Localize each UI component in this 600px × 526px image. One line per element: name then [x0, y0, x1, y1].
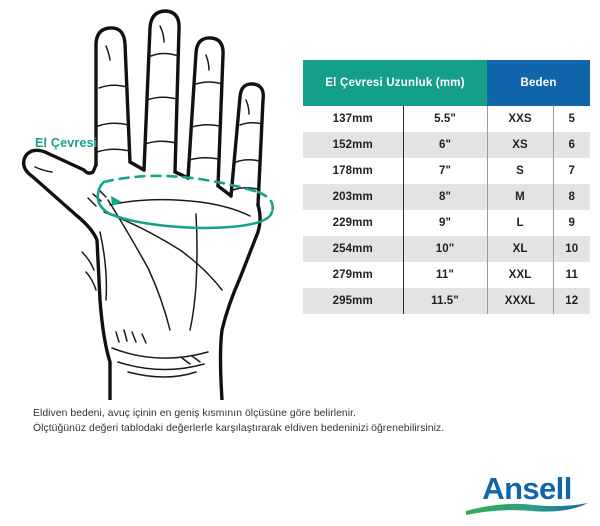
hand-outline-group: [24, 11, 264, 400]
cell-size-letter: XXL: [487, 262, 553, 288]
table-row: 203mm8"M8: [303, 184, 590, 210]
wrist-hair-4: [142, 334, 146, 343]
cell-size-letter: XL: [487, 236, 553, 262]
cell-circumference-mm: 152mm: [303, 132, 403, 158]
finger-web-ring-little: [218, 186, 231, 196]
middle-knuckle-1: [151, 54, 178, 57]
table-row: 137mm5.5"XXS5: [303, 106, 590, 132]
ansell-logo: Ansell: [462, 472, 592, 520]
cell-circumference-inch: 9": [403, 210, 487, 236]
cell-circumference-inch: 10": [403, 236, 487, 262]
cell-size-letter: XXS: [487, 106, 553, 132]
ring-knuckle-1: [196, 82, 222, 84]
ansell-logo-svg: Ansell: [462, 472, 592, 520]
size-table-header-row: El Çevresi Uzunluk (mm) Beden: [303, 60, 590, 106]
cell-size-number: 11: [553, 262, 590, 288]
cell-circumference-inch: 8": [403, 184, 487, 210]
little-nail-crease: [246, 100, 249, 114]
cell-circumference-inch: 6": [403, 132, 487, 158]
cell-size-number: 8: [553, 184, 590, 210]
caption-line-2: Ölçtüğünüz değeri tablodaki değerlerle k…: [33, 421, 573, 436]
cell-circumference-mm: 295mm: [303, 288, 403, 314]
cell-circumference-mm: 279mm: [303, 262, 403, 288]
palm-line-fate: [190, 214, 197, 330]
ansell-wordmark-text: Ansell: [482, 472, 571, 506]
thumb-and-palm-outline: [24, 150, 110, 400]
wrist-hair-2: [124, 330, 127, 341]
table-row: 152mm6"XS6: [303, 132, 590, 158]
cell-size-number: 7: [553, 158, 590, 184]
header-hand-circumference: El Çevresi Uzunluk (mm): [303, 60, 487, 106]
wrist-hair-1: [116, 332, 119, 342]
little-knuckle-2: [236, 160, 259, 162]
wrist-hair-5: [182, 358, 190, 364]
table-row: 279mm11"XXL11: [303, 262, 590, 288]
wrist-hair-3: [132, 332, 136, 342]
cell-size-number: 6: [553, 132, 590, 158]
cell-size-letter: S: [487, 158, 553, 184]
table-row: 229mm9"L9: [303, 210, 590, 236]
index-nail-crease: [106, 46, 110, 60]
cell-circumference-inch: 7": [403, 158, 487, 184]
cell-size-number: 5: [553, 106, 590, 132]
cell-circumference-mm: 137mm: [303, 106, 403, 132]
table-row: 295mm11.5"XXXL12: [303, 288, 590, 314]
hand-illustration: El Çevresi: [0, 0, 300, 400]
thenar-detail-2: [86, 272, 96, 290]
glove-size-table: El Çevresi Uzunluk (mm) Beden 137mm5.5"X…: [303, 60, 590, 314]
index-finger-outline: [96, 28, 130, 165]
cell-circumference-mm: 203mm: [303, 184, 403, 210]
index-knuckle-3: [97, 149, 130, 152]
ring-knuckle-3: [189, 158, 219, 160]
palm-line-life: [108, 200, 170, 330]
cell-circumference-inch: 5.5": [403, 106, 487, 132]
palm-line-heart: [110, 200, 250, 216]
middle-knuckle-2: [147, 97, 177, 100]
cell-circumference-inch: 11": [403, 262, 487, 288]
caption-block: Eldiven bedeni, avuç içinin en geniş kıs…: [33, 406, 573, 436]
palm-right-outline: [221, 205, 261, 400]
cell-circumference-mm: 178mm: [303, 158, 403, 184]
header-size: Beden: [487, 60, 590, 106]
wrist-crease-2: [118, 362, 204, 370]
table-row: 178mm7"S7: [303, 158, 590, 184]
thumb-nail-crease: [35, 167, 52, 172]
cell-size-number: 10: [553, 236, 590, 262]
cell-size-letter: XXXL: [487, 288, 553, 314]
caption-line-1: Eldiven bedeni, avuç içinin en geniş kıs…: [33, 406, 573, 421]
table-row: 254mm10"XL10: [303, 236, 590, 262]
finger-web-index-middle: [130, 162, 144, 170]
middle-finger-outline: [144, 11, 179, 172]
little-knuckle-1: [240, 123, 262, 125]
cell-circumference-mm: 229mm: [303, 210, 403, 236]
wrist-crease-3: [128, 372, 196, 377]
index-knuckle-1: [99, 85, 127, 88]
cell-circumference-mm: 254mm: [303, 236, 403, 262]
wrist-hair-6: [192, 356, 200, 362]
cell-size-letter: XS: [487, 132, 553, 158]
thumb-web-crease-1: [88, 198, 96, 206]
size-table-body: 137mm5.5"XXS5152mm6"XS6178mm7"S7203mm8"M…: [303, 106, 590, 314]
middle-nail-crease: [160, 26, 164, 42]
ring-finger-outline: [188, 38, 223, 186]
thumb-web-crease-3: [99, 190, 106, 197]
cell-circumference-inch: 11.5": [403, 288, 487, 314]
cell-size-number: 9: [553, 210, 590, 236]
hand-circumference-label: El Çevresi: [35, 136, 97, 150]
cell-size-letter: M: [487, 184, 553, 210]
index-knuckle-2: [98, 123, 129, 126]
hand-diagram-svg: [0, 0, 300, 400]
middle-knuckle-3: [145, 141, 176, 144]
cell-size-letter: L: [487, 210, 553, 236]
cell-size-number: 12: [553, 288, 590, 314]
ring-knuckle-2: [192, 125, 220, 127]
ring-nail-crease: [206, 55, 209, 70]
thenar-detail-1: [82, 252, 94, 270]
size-table-head: El Çevresi Uzunluk (mm) Beden: [303, 60, 590, 106]
circumference-arrow-head: [111, 196, 122, 206]
